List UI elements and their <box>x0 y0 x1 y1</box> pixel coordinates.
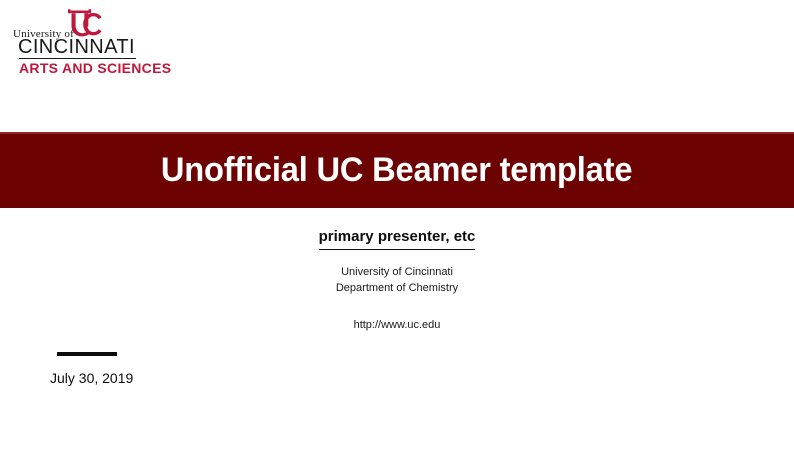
page-title: Unofficial UC Beamer template <box>161 152 632 188</box>
author-name: primary presenter, etc <box>319 228 476 250</box>
url-block: http://www.uc.edu <box>0 315 794 333</box>
institute-line-university: University of Cincinnati <box>0 264 794 280</box>
logo-college-text: ARTS AND SCIENCES <box>19 60 171 76</box>
date-divider-rule <box>57 352 117 356</box>
institute-url-link[interactable]: http://www.uc.edu <box>354 319 441 331</box>
presentation-date: July 30, 2019 <box>50 370 133 387</box>
author-block: primary presenter, etc <box>0 228 794 250</box>
title-slide: University of CINCINNATI ARTS AND SCIENC… <box>0 0 794 449</box>
logo-divider-rule <box>19 58 136 59</box>
logo-cincinnati-text: CINCINNATI <box>18 37 135 58</box>
title-band-top-rule <box>0 132 794 134</box>
uc-arts-and-sciences-logo: University of CINCINNATI ARTS AND SCIENC… <box>8 6 168 76</box>
institute-block: University of Cincinnati Department of C… <box>0 264 794 296</box>
title-band: Unofficial UC Beamer template <box>0 132 794 208</box>
institute-line-department: Department of Chemistry <box>0 280 794 296</box>
